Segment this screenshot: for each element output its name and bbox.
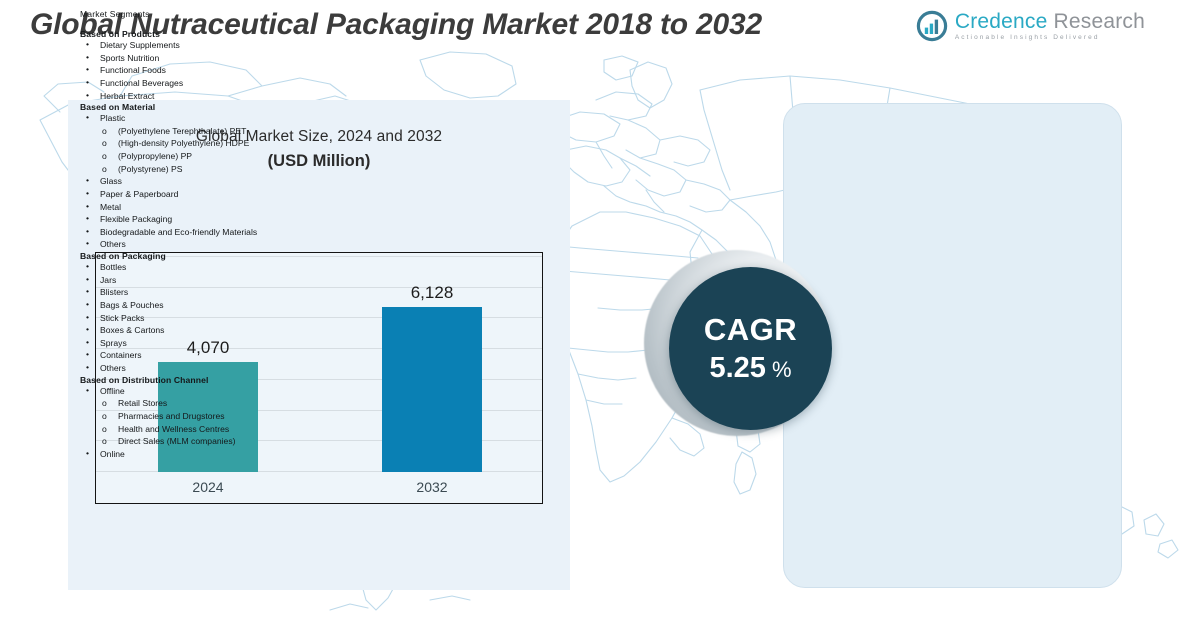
bullet-icon: • — [86, 298, 89, 311]
segment-item: •Online — [80, 448, 335, 461]
segment-subitem: o(Polypropylene) PP — [80, 150, 335, 163]
segment-item: •Jars — [80, 274, 335, 287]
segment-sublist: oRetail StoresoPharmacies and Drugstores… — [80, 397, 335, 448]
segment-subitem: oRetail Stores — [80, 397, 335, 410]
bar-rect — [382, 307, 482, 472]
sub-bullet-icon: o — [102, 423, 107, 436]
bullet-icon: • — [86, 260, 89, 273]
segment-item: •Boxes & Cartons — [80, 324, 335, 337]
bullet-icon: • — [86, 212, 89, 225]
segment-subitem: o(Polyethylene Terephthalate) PET — [80, 125, 335, 138]
bullet-icon: • — [86, 323, 89, 336]
bullet-icon: • — [86, 200, 89, 213]
market-segments-title: Market Segments — [80, 9, 335, 19]
segment-item: •Others — [80, 238, 335, 251]
segment-list: •OfflineoRetail StoresoPharmacies and Dr… — [80, 385, 335, 461]
bullet-icon: • — [86, 174, 89, 187]
segment-list: •Plastico(Polyethylene Terephthalate) PE… — [80, 112, 335, 251]
cagr-percent-sign: % — [772, 359, 792, 381]
bullet-icon: • — [86, 187, 89, 200]
segment-group-heading: Based on Packaging — [80, 251, 335, 261]
segment-item: •Containers — [80, 349, 335, 362]
market-segments-groups: Based on Products•Dietary Supplements•Sp… — [80, 29, 335, 460]
sub-bullet-icon: o — [102, 137, 107, 150]
segment-item: •Offline — [80, 385, 335, 398]
segment-group-heading: Based on Products — [80, 29, 335, 39]
bullet-icon: • — [86, 63, 89, 76]
segment-item: •Bags & Pouches — [80, 299, 335, 312]
sub-bullet-icon: o — [102, 435, 107, 448]
sub-bullet-icon: o — [102, 163, 107, 176]
bullet-icon: • — [86, 38, 89, 51]
market-segments-content: Market Segments Based on Products•Dietar… — [80, 9, 335, 460]
logo-brand-secondary: Research — [1054, 11, 1145, 32]
segment-item: •Others — [80, 362, 335, 375]
segment-item: •Functional Beverages — [80, 77, 335, 90]
segment-item: •Bottles — [80, 261, 335, 274]
segment-item: •Functional Foods — [80, 64, 335, 77]
segment-subitem: o(Polystyrene) PS — [80, 163, 335, 176]
cagr-label: CAGR — [704, 314, 797, 345]
bullet-icon: • — [86, 89, 89, 102]
segment-item: •Sprays — [80, 337, 335, 350]
segment-item: •Metal — [80, 201, 335, 214]
bullet-icon: • — [86, 285, 89, 298]
bullet-icon: • — [86, 225, 89, 238]
segment-subitem: oPharmacies and Drugstores — [80, 410, 335, 423]
segment-subitem: oHealth and Wellness Centres — [80, 423, 335, 436]
segment-subitem: o(High-density Polyethylene) HDPE — [80, 137, 335, 150]
bar-category-label: 2032 — [416, 479, 447, 495]
segment-list: •Bottles•Jars•Blisters•Bags & Pouches•St… — [80, 261, 335, 375]
logo-brand-primary: Credence — [955, 11, 1048, 32]
segment-item: •Sports Nutrition — [80, 52, 335, 65]
segment-item: •Herbal Extract — [80, 90, 335, 103]
bullet-icon: • — [86, 76, 89, 89]
segment-subitem: oDirect Sales (MLM companies) — [80, 435, 335, 448]
bullet-icon: • — [86, 51, 89, 64]
segment-item: •Dietary Supplements — [80, 39, 335, 52]
segment-item: •Glass — [80, 175, 335, 188]
bullet-icon: • — [86, 447, 89, 460]
bar-chart-circle-icon — [916, 10, 948, 42]
cagr-value: 5.25 — [709, 354, 765, 383]
logo-tagline: Actionable Insights Delivered — [955, 35, 1145, 42]
segment-item: •Blisters — [80, 286, 335, 299]
sub-bullet-icon: o — [102, 150, 107, 163]
segment-list: •Dietary Supplements•Sports Nutrition•Fu… — [80, 39, 335, 102]
bar-category-label: 2024 — [192, 479, 223, 495]
cagr-badge: CAGR 5.25 % — [644, 250, 854, 460]
brand-logo: Credence Research Actionable Insights De… — [916, 10, 1145, 42]
sub-bullet-icon: o — [102, 397, 107, 410]
segment-group-heading: Based on Material — [80, 102, 335, 112]
bullet-icon: • — [86, 348, 89, 361]
bullet-icon: • — [86, 111, 89, 124]
cagr-value-row: 5.25 % — [709, 354, 791, 383]
segment-sublist: o(Polyethylene Terephthalate) PETo(High-… — [80, 125, 335, 176]
bullet-icon: • — [86, 336, 89, 349]
bullet-icon: • — [86, 361, 89, 374]
segment-item: •Paper & Paperboard — [80, 188, 335, 201]
segment-item: •Stick Packs — [80, 312, 335, 325]
bullet-icon: • — [86, 311, 89, 324]
segment-item: •Flexible Packaging — [80, 213, 335, 226]
segment-item: •Plastic — [80, 112, 335, 125]
bullet-icon: • — [86, 273, 89, 286]
sub-bullet-icon: o — [102, 125, 107, 138]
bar-value-label: 6,128 — [411, 283, 454, 303]
segment-item: •Biodegradable and Eco-friendly Material… — [80, 226, 335, 239]
bullet-icon: • — [86, 384, 89, 397]
bar-group: 6,1282032 — [382, 307, 482, 472]
cagr-circle: CAGR 5.25 % — [669, 267, 832, 430]
segment-group-heading: Based on Distribution Channel — [80, 375, 335, 385]
sub-bullet-icon: o — [102, 410, 107, 423]
bullet-icon: • — [86, 237, 89, 250]
